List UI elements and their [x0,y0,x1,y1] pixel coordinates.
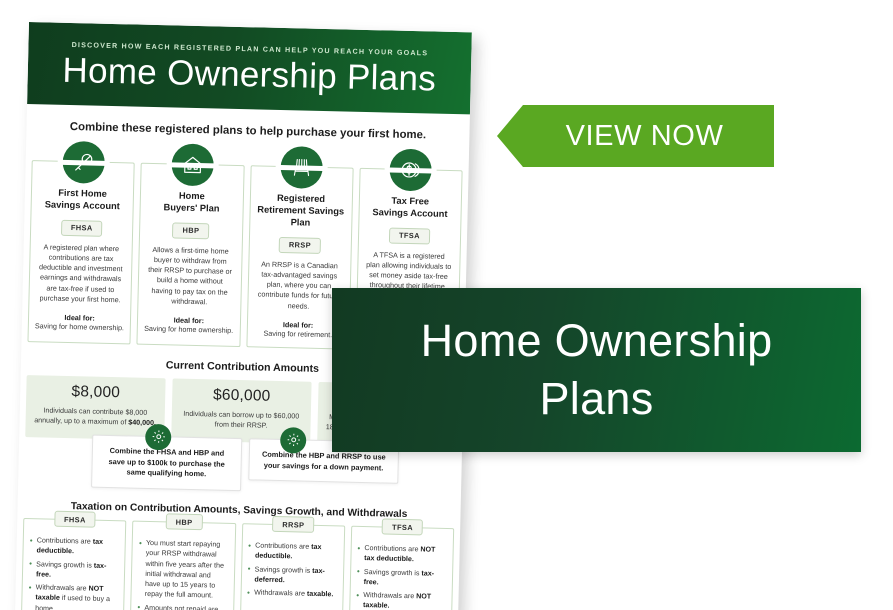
item-text: Savings growth is [36,560,94,569]
taxation-list: Contributions are NOT tax deductible. Sa… [356,543,447,610]
plan-description: A registered plan where contributions ar… [35,242,126,305]
item-text: Contributions are [255,542,311,551]
list-item: Contributions are NOT tax deductible. [357,543,447,566]
house-icon [171,143,214,186]
ideal-for-value: Saving for retirement. [253,328,342,340]
plan-name-line1: First Home [58,188,107,199]
taxation-list: Contributions are tax deductible. Saving… [28,535,119,610]
plan-tag-tfsa: TFSA [389,227,430,244]
list-item: Contributions are tax deductible. [29,535,119,558]
list-item: You must start repaying your RRSP withdr… [138,538,229,602]
list-item: Contributions are tax deductible. [248,540,338,563]
ideal-for-value: Saving for home ownership. [144,324,233,336]
item-text: Contributions are [364,544,420,553]
hero-title: Home Ownership Plans [62,51,436,100]
plan-card-hbp[interactable]: Home Buyers' Plan HBP Allows a first-tim… [137,163,245,347]
plan-name-line1: Registered [277,193,325,204]
flyer-hero: DISCOVER HOW EACH REGISTERED PLAN CAN HE… [27,22,472,114]
key-icon [62,141,105,184]
plan-name-line1: Tax Free [391,196,429,207]
plan-description: A TFSA is a registered plan allowing ind… [364,250,454,293]
plan-description: Allows a first-time home buyer to withdr… [145,245,236,308]
list-item: Withdrawals are NOT taxable. [356,590,446,610]
taxation-tag-hbp: HBP [166,513,203,530]
list-item: Savings growth is tax-deferred. [247,564,337,587]
dollar-coin-icon [390,149,433,192]
contribution-amount: $8,000 [34,382,157,403]
item-text: Withdrawals are [36,583,89,592]
combo-spacer-left [24,433,85,488]
taxation-column-fhsa: FHSA Contributions are tax deductible. S… [21,518,127,610]
plan-name-line1: Home [179,191,205,202]
item-text: Withdrawals are [363,591,416,600]
overlay-title-card: Home Ownership Plans [332,288,861,452]
taxation-tag-fhsa: FHSA [54,511,96,528]
plan-name-line2: Buyers' Plan [163,202,219,213]
ideal-for-value: Saving for home ownership. [35,321,124,333]
plan-name: Home Buyers' Plan [147,190,237,216]
list-item: Withdrawals are taxable. [247,587,336,599]
plan-name: First Home Savings Account [38,187,128,213]
taxation-column-tfsa: TFSA Contributions are NOT tax deductibl… [348,526,454,610]
list-item: Savings growth is tax-free. [29,559,119,582]
plan-description: An RRSP is a Canadian tax-advantaged sav… [254,259,344,312]
item-bold: taxable. [307,590,334,599]
view-now-label: VIEW NOW [548,120,724,153]
taxation-list: Contributions are tax deductible. Saving… [247,540,338,599]
overlay-title-line1: Home Ownership [421,315,773,366]
contribution-amount: $60,000 [180,386,303,407]
plan-name-line2: Retirement Savings Plan [257,204,344,227]
chair-icon [280,146,323,189]
item-text: Withdrawals are [254,589,307,598]
taxation-column-rrsp: RRSP Contributions are tax deductible. S… [239,523,345,610]
item-text: Contributions are [37,536,93,545]
contribution-description: Individuals can contribute $8,000 annual… [33,405,156,428]
overlay-title-line2: Plans [539,373,653,424]
plan-card-fhsa[interactable]: First Home Savings Account FHSA A regist… [27,160,135,344]
item-text: Savings growth is [364,568,422,577]
list-item: Savings growth is tax-free. [357,566,447,589]
view-now-button[interactable]: VIEW NOW [497,105,774,167]
plan-name-line2: Savings Account [45,199,120,211]
list-item: Amounts not repaid are taxable. [137,602,227,610]
plan-name-line2: Savings Account [372,207,447,219]
contribution-box-fhsa: $8,000 Individuals can contribute $8,000… [25,375,165,440]
taxation-column-hbp: HBP You must start repaying your RRSP wi… [130,521,236,610]
taxation-list: You must start repaying your RRSP withdr… [137,538,228,610]
list-item: Withdrawals are NOT taxable if used to b… [28,582,118,610]
plan-name: Tax Free Savings Account [365,195,455,221]
screenshot-root: DISCOVER HOW EACH REGISTERED PLAN CAN HE… [0,0,893,610]
taxation-column-row: FHSA Contributions are tax deductible. S… [15,518,460,610]
plan-name: Registered Retirement Savings Plan [256,192,346,230]
plan-tag-hbp: HBP [172,222,209,239]
overlay-title: Home Ownership Plans [421,312,773,427]
plan-tag-rrsp: RRSP [279,237,322,254]
contribution-description: Individuals can borrow up to $60,000 fro… [179,409,302,432]
taxation-tag-tfsa: TFSA [382,519,423,536]
taxation-tag-rrsp: RRSP [272,516,315,533]
plan-tag-fhsa: FHSA [61,220,103,237]
item-text: Savings growth is [255,565,313,574]
